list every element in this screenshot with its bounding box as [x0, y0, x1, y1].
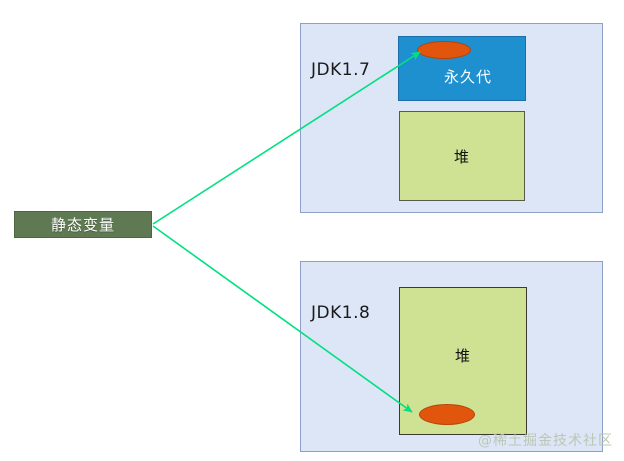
jdk17-label: JDK1.7	[311, 60, 370, 80]
heap-label-jdk17: 堆	[454, 146, 470, 167]
static-variable-node: 静态变量	[14, 211, 152, 238]
watermark: @稀土掘金技术社区	[478, 430, 613, 450]
jdk18-label: JDK1.8	[311, 303, 370, 323]
diagram-canvas: 静态变量 JDK1.7 永久代 堆 JDK1.8 堆 @稀土掘金技术社区	[0, 0, 624, 461]
static-variable-marker-permgen	[417, 41, 471, 59]
static-variable-label: 静态变量	[51, 214, 115, 235]
heap-region-jdk17: 堆	[399, 111, 525, 201]
static-variable-marker-heap	[419, 404, 475, 425]
permgen-label: 永久代	[444, 66, 492, 87]
heap-label-jdk18: 堆	[455, 345, 471, 366]
